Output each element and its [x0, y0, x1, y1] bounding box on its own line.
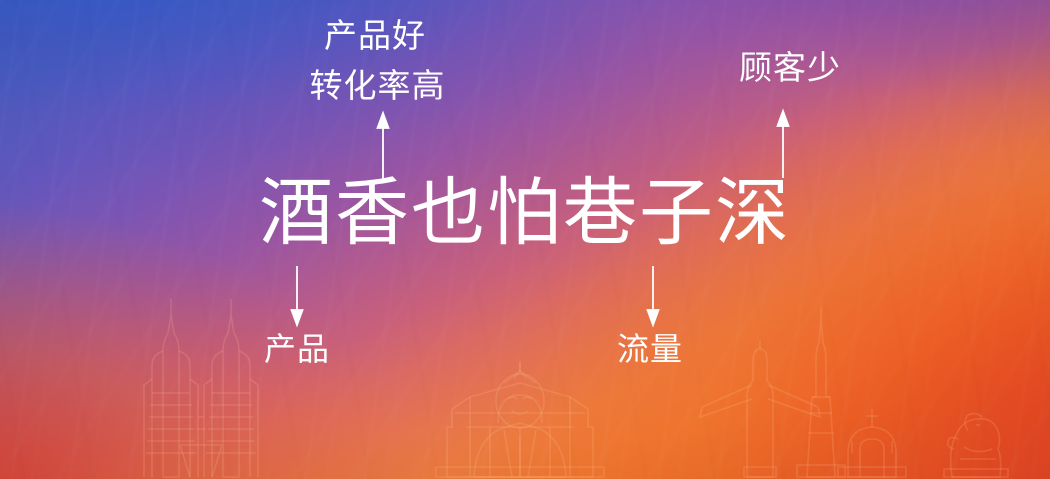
petronas-towers-icon — [144, 299, 258, 477]
banner-headline: 酒香也怕巷子深 — [0, 176, 1050, 250]
cathedral-icon — [838, 409, 906, 477]
merlion-icon — [944, 413, 1008, 477]
skyline-silhouette-group — [0, 289, 1050, 479]
monas-monument-icon — [797, 307, 845, 477]
buddha-statue-icon — [474, 363, 566, 477]
annotation-label-product: 产品 — [232, 330, 362, 369]
annotation-label-product-good: 产品好 — [275, 16, 475, 56]
annotation-label-few-customers: 顾客少 — [700, 48, 880, 88]
annotation-label-traffic: 流量 — [585, 330, 715, 369]
promo-banner: 酒香也怕巷子深 产品好 转化率高 顾客少 产品 流量 — [0, 0, 1050, 479]
christ-the-redeemer-icon — [700, 341, 820, 477]
annotation-label-conversion-rate: 转化率高 — [275, 66, 480, 106]
